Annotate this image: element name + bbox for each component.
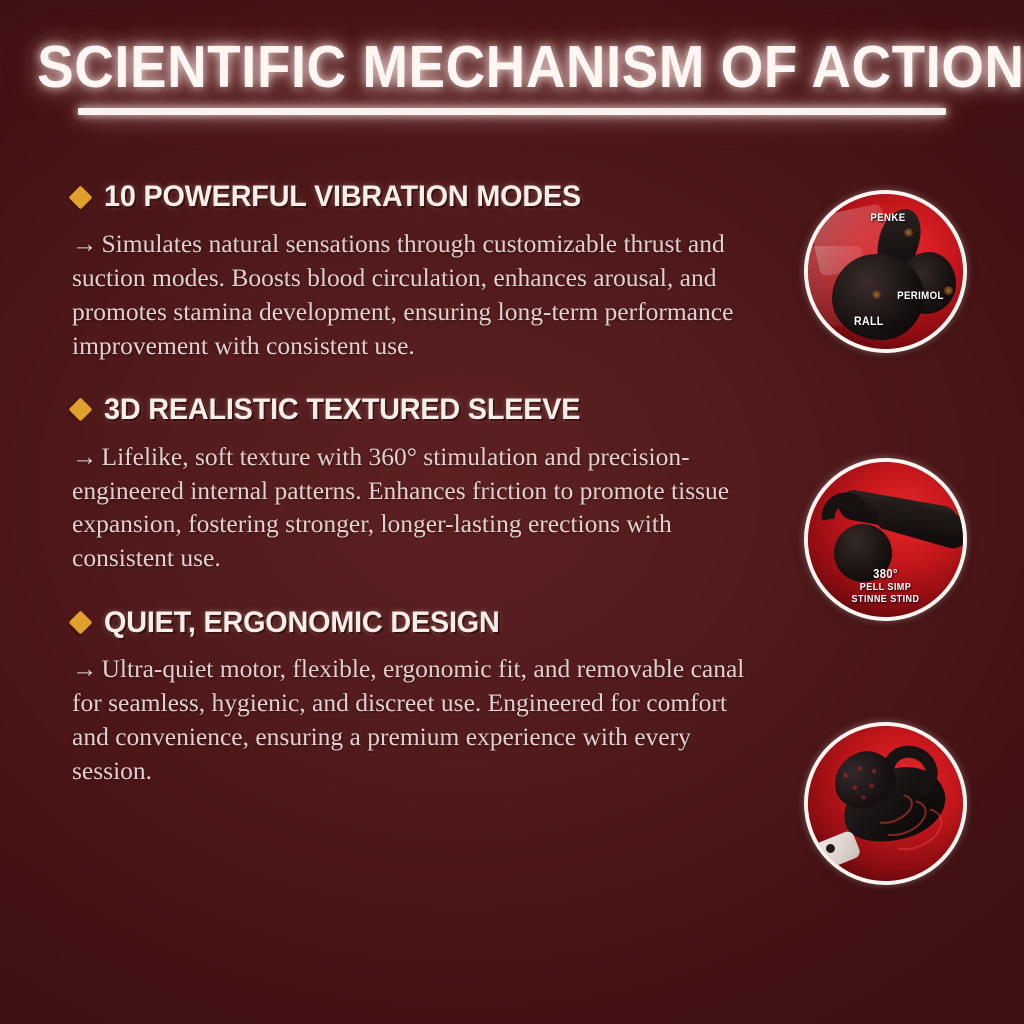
product-image-textured-sleeve: 380° PELL SIMP STINNE STIND: [804, 458, 967, 621]
feature-item-textured-sleeve: 3D REALISTIC TEXTURED SLEEVE →Lifelike, …: [72, 391, 762, 576]
feature-description-text: Lifelike, soft texture with 360° stimula…: [72, 442, 729, 573]
feature-title: QUIET, ERGONOMIC DESIGN: [104, 607, 500, 639]
feature-heading-row: QUIET, ERGONOMIC DESIGN: [72, 603, 762, 641]
product-image-ergonomic-design: [804, 722, 967, 885]
product-photo-backdrop: [808, 726, 963, 881]
arrow-icon: →: [72, 442, 102, 471]
feature-heading-row: 3D REALISTIC TEXTURED SLEEVE: [72, 391, 762, 429]
page-title: SCIENTIFIC MECHANISM OF ACTION: [37, 38, 1024, 97]
feature-description: →Lifelike, soft texture with 360° stimul…: [72, 440, 762, 576]
diamond-bullet-icon: [68, 185, 92, 209]
feature-item-ergonomic-design: QUIET, ERGONOMIC DESIGN →Ultra-quiet mot…: [72, 603, 762, 788]
product-caption-right: PERIMOL: [897, 290, 944, 302]
product-caption-line-3: STINNE STIND: [819, 593, 952, 605]
title-underline-rule: [78, 108, 946, 115]
product-caption-top: PENKE: [870, 212, 905, 224]
feature-item-vibration-modes: 10 POWERFUL VIBRATION MODES →Simulates n…: [72, 178, 762, 363]
product-caption-block: 380° PELL SIMP STINNE STIND: [808, 566, 963, 605]
title-block: SCIENTIFIC MECHANISM OF ACTION: [0, 38, 1024, 115]
product-image-vibration-modes: PENKE PERIMOL RALL: [804, 190, 967, 353]
product-detail-dot: [944, 286, 953, 295]
diamond-bullet-icon: [68, 398, 92, 422]
feature-description-text: Simulates natural sensations through cus…: [72, 229, 733, 360]
feature-list: 10 POWERFUL VIBRATION MODES →Simulates n…: [72, 178, 762, 788]
arrow-icon: →: [72, 654, 102, 683]
arrow-icon: →: [72, 229, 102, 258]
diamond-bullet-icon: [68, 610, 92, 634]
feature-description: →Simulates natural sensations through cu…: [72, 227, 762, 363]
product-caption-line-1: 380°: [819, 566, 952, 581]
feature-title: 10 POWERFUL VIBRATION MODES: [104, 181, 581, 213]
feature-title: 3D REALISTIC TEXTURED SLEEVE: [104, 394, 580, 426]
product-caption-line-2: PELL SIMP: [819, 581, 952, 593]
product-caption-bottom: RALL: [854, 314, 884, 328]
infographic-poster: SCIENTIFIC MECHANISM OF ACTION 10 POWERF…: [0, 0, 1024, 1024]
product-detail-dot: [904, 228, 913, 237]
feature-description: →Ultra-quiet motor, flexible, ergonomic …: [72, 652, 762, 788]
product-detail-dot: [872, 290, 881, 299]
feature-description-text: Ultra-quiet motor, flexible, ergonomic f…: [72, 654, 744, 785]
feature-heading-row: 10 POWERFUL VIBRATION MODES: [72, 178, 762, 216]
